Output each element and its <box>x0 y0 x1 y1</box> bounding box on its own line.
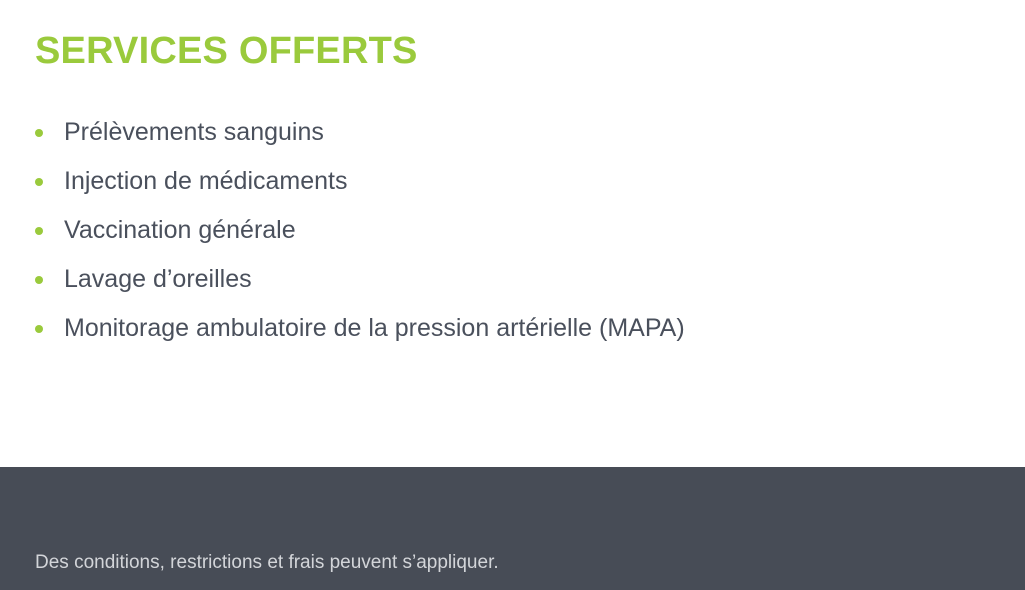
list-item: Lavage d’oreilles <box>35 255 985 304</box>
list-item-label: Injection de médicaments <box>64 167 347 195</box>
services-bullet-list: Prélèvements sanguins Injection de médic… <box>35 108 985 353</box>
list-item: Prélèvements sanguins <box>35 108 985 157</box>
footer-disclaimer-text: Des conditions, restrictions et frais pe… <box>35 552 499 574</box>
list-item: Monitorage ambulatoire de la pression ar… <box>35 304 985 353</box>
bullet-dot-icon <box>35 178 43 186</box>
page-title: SERVICES OFFERTS <box>35 31 418 73</box>
list-item-label: Lavage d’oreilles <box>64 265 252 293</box>
list-item: Vaccination générale <box>35 206 985 255</box>
bullet-dot-icon <box>35 325 43 333</box>
list-item-label: Vaccination générale <box>64 216 296 244</box>
bullet-dot-icon <box>35 129 43 137</box>
list-item-label: Prélèvements sanguins <box>64 118 324 146</box>
slide-canvas: SERVICES OFFERTS Prélèvements sanguins I… <box>0 0 1025 590</box>
list-item: Injection de médicaments <box>35 157 985 206</box>
bullet-dot-icon <box>35 276 43 284</box>
bullet-dot-icon <box>35 227 43 235</box>
list-item-label: Monitorage ambulatoire de la pression ar… <box>64 314 685 342</box>
